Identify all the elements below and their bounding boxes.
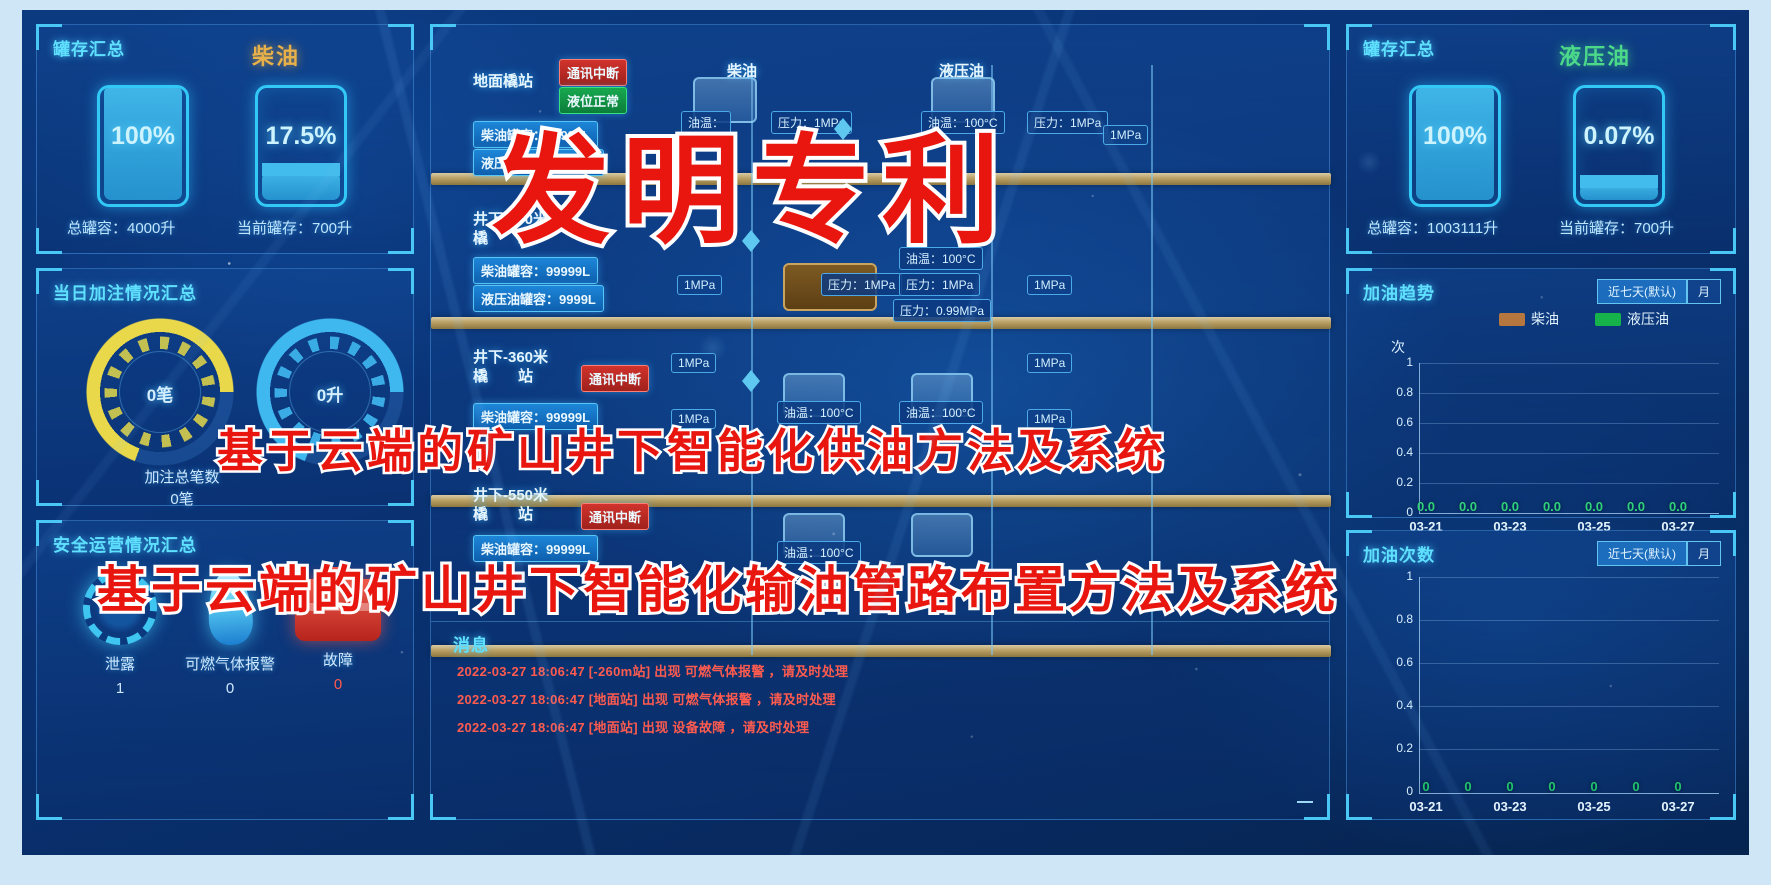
gridline [1419,663,1719,664]
data-point-label: 0.0 [1535,499,1569,514]
x-tick-label: 03-25 [1564,799,1624,814]
data-point-label: 0.0 [1661,499,1695,514]
total-capacity-label: 总罐容：1003111升 [1367,217,1498,238]
tank-gauge-current: 0.07% [1573,85,1665,207]
tank-percent-value: 0.07% [1576,122,1662,151]
readout-pressure-2: 压力：1MPa [1027,111,1108,134]
y-tick-label: 0.6 [1383,655,1413,669]
data-point-label: 0 [1535,779,1569,794]
messages-title: 消息 [453,631,489,656]
gridline [1419,706,1719,707]
tank-wave [1580,175,1658,188]
corner-decoration [430,794,456,820]
panel-title: 罐存汇总 [53,35,125,60]
data-point-label: 0 [1661,779,1695,794]
y-tick-label: 0.2 [1383,475,1413,489]
y-tick-label: 1 [1383,569,1413,583]
tank-percent-value: 100% [100,122,186,151]
readout-pressure-4: 压力：1MPa [899,273,980,296]
pressure-tag-360-b: 1MPa [1027,353,1072,373]
message-row: 2022-03-27 18:06:47 [地面站] 出现 设备故障 ，请及时处理 [457,717,809,736]
safety-item-label: 故障 [273,649,403,670]
panel-accent-diesel: 柴油 [252,39,300,71]
total-capacity-label: 总罐容：4000升 [67,217,175,238]
corner-decoration [1710,24,1736,50]
level-360-pipe [431,495,1331,507]
tank-percent-value: 100% [1412,122,1498,151]
panel-title: 罐存汇总 [1363,35,1435,60]
corner-decoration [36,794,62,820]
y-tick-label: 0.4 [1383,445,1413,459]
gridline [1419,423,1719,424]
panel-accent-hydraulic: 液压油 [1559,39,1631,71]
y-axis-line [1419,363,1420,513]
gridline [1419,577,1719,578]
panel-left-tank-summary: 罐存汇总 柴油 100% 17.5% 总罐容：4000升 当前罐存：700升 [36,24,414,254]
message-row: 2022-03-27 18:06:47 [-260m站] 出现 可燃气体报警 ，… [457,661,848,680]
data-point-label: 0.0 [1493,499,1527,514]
collapse-icon[interactable] [1297,801,1313,803]
y-tick-label: 0.8 [1383,612,1413,626]
chart-refuel-trend: 次 1 0.8 0.6 0.4 0.2 0 0.0 0.0 0.0 0.0 0.… [1347,269,1737,519]
readout-pressure-3: 压力：1MPa [821,273,902,296]
current-stock-label: 当前罐存：700升 [1559,217,1674,238]
gauge-value: 0笔 [85,381,235,406]
panel-right-tank-summary: 罐存汇总 液压油 100% 0.07% 总罐容：1003111升 当前罐存：70… [1346,24,1736,254]
corner-decoration [1304,794,1330,820]
message-row: 2022-03-27 18:06:47 [地面站] 出现 可燃气体报警 ，请及时… [457,689,836,708]
level-550-pipe [431,645,1331,657]
corner-decoration [388,794,414,820]
gridline [1419,483,1719,484]
gauge-refuel-count: 0笔 [85,317,235,467]
pressure-tag-360-a: 1MPa [671,353,716,373]
refuel-total-title: 加注总笔数 [144,469,219,486]
station-name-360: 井下-360米橇 站 [473,349,548,387]
station-status-comm-ground: 通讯中断 [559,59,627,86]
watermark-line-1: 基于云端的矿山井下智能化供油方法及系统 [217,415,1167,481]
current-stock-label: 当前罐存：700升 [237,217,352,238]
tank-gauge-total: 100% [1409,85,1501,207]
panel-refuel-count: 加油次数 近七天(默认) 月 1 0.8 0.6 0.4 0.2 0 0 [1346,530,1736,820]
corner-decoration [36,228,62,254]
gridline [1419,620,1719,621]
chart-refuel-count: 1 0.8 0.6 0.4 0.2 0 0 0 0 0 0 0 0 03-21 … [1347,531,1737,821]
corner-decoration [388,268,414,294]
y-tick-label: 0.2 [1383,741,1413,755]
data-point-label: 0 [1493,779,1527,794]
gridline [1419,393,1719,394]
corner-decoration [1304,24,1330,50]
data-point-label: 0 [1577,779,1611,794]
y-tick-label: 0.6 [1383,415,1413,429]
corner-decoration [1710,228,1736,254]
gridline [1419,749,1719,750]
station-tank-hydraulic-200: 液压油罐容：9999L [473,285,604,312]
station-status-comm-360: 通讯中断 [581,365,649,392]
pressure-tag-200-left: 1MPa [677,275,722,295]
tank-gauge-current: 17.5% [255,85,347,207]
corner-decoration [388,24,414,50]
corner-decoration [388,520,414,546]
data-point-label: 0 [1451,779,1485,794]
y-axis-line [1419,577,1420,793]
dashboard-board: 罐存汇总 柴油 100% 17.5% 总罐容：4000升 当前罐存：700升 当… [22,10,1749,855]
corner-decoration [388,480,414,506]
gauge-value: 0升 [255,381,405,406]
gridline [1419,453,1719,454]
station-status-comm-550: 通讯中断 [581,503,649,530]
x-tick-label: 03-21 [1396,799,1456,814]
gridline [1419,363,1719,364]
tank-fill [262,172,340,200]
panel-title: 当日加注情况汇总 [53,279,197,304]
tank-wave [262,163,340,176]
data-point-label: 0 [1619,779,1653,794]
x-tick-label: 03-23 [1480,799,1540,814]
tank-gauge-total: 100% [97,85,189,207]
panel-refuel-trend: 加油趋势 近七天(默认) 月 柴油 液压油 次 [1346,268,1736,518]
corner-decoration [36,480,62,506]
data-point-label: 0.0 [1619,499,1653,514]
screenshot-root: 罐存汇总 柴油 100% 17.5% 总罐容：4000升 当前罐存：700升 当… [0,0,1771,885]
corner-decoration [430,24,456,50]
data-point-label: 0 [1409,779,1443,794]
refuel-total-value: 0笔 [170,491,193,508]
data-point-label: 0.0 [1577,499,1611,514]
safety-item-value: 0 [273,676,403,693]
watermark-line-2: 基于云端的矿山井下智能化输油管路布置方法及系统 [97,550,1339,622]
station-name-ground: 地面橇站 [473,73,533,92]
readout-pressure-5: 压力：0.99MPa [893,299,991,322]
tank-percent-value: 17.5% [258,122,344,151]
y-tick-label: 0.4 [1383,698,1413,712]
y-tick-label: 0.8 [1383,385,1413,399]
station-name-550: 井下-550米橇 站 [473,487,548,525]
level-200-pipe [431,317,1331,329]
data-point-label: 0.0 [1451,499,1485,514]
x-tick-label: 03-27 [1648,799,1708,814]
pressure-tag-ground-right: 1MPa [1103,125,1148,145]
data-point-label: 0.0 [1409,499,1443,514]
y-axis-unit: 次 [1391,337,1405,357]
y-tick-label: 1 [1383,355,1413,369]
corner-decoration [388,228,414,254]
watermark-title: 发明专利 [492,95,1012,266]
pressure-tag-200-right: 1MPa [1027,275,1072,295]
